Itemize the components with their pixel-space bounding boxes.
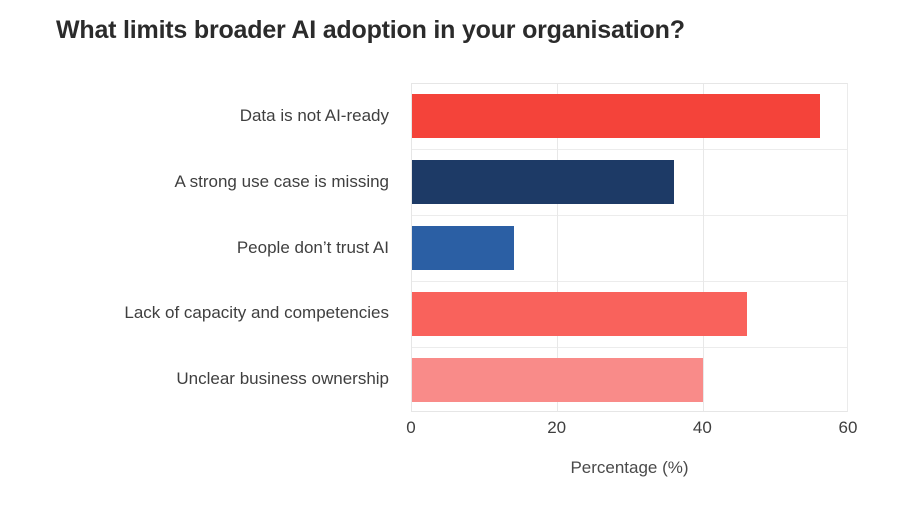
gridline-horizontal bbox=[412, 149, 847, 150]
y-axis-tick-label: Unclear business ownership bbox=[176, 369, 389, 389]
x-axis-tick-label: 60 bbox=[839, 418, 858, 438]
y-axis-tick-label: A strong use case is missing bbox=[175, 172, 389, 192]
bar-row bbox=[412, 358, 847, 402]
x-axis-tick-label: 20 bbox=[547, 418, 566, 438]
x-axis-title: Percentage (%) bbox=[411, 458, 848, 478]
gridline-horizontal bbox=[412, 215, 847, 216]
gridline-horizontal bbox=[412, 347, 847, 348]
bar-row bbox=[412, 226, 847, 270]
bar-row bbox=[412, 292, 847, 336]
x-axis-tick-label: 40 bbox=[693, 418, 712, 438]
y-axis-tick-label: Lack of capacity and competencies bbox=[124, 303, 389, 323]
y-axis-tick-label: People don’t trust AI bbox=[237, 238, 389, 258]
plot-area bbox=[411, 83, 848, 412]
chart-figure: What limits broader AI adoption in your … bbox=[0, 0, 900, 505]
bar[interactable] bbox=[412, 226, 514, 270]
bar[interactable] bbox=[412, 94, 820, 138]
x-axis-ticks: 0 20 40 60 bbox=[411, 418, 848, 446]
x-axis-tick-label: 0 bbox=[406, 418, 415, 438]
bar[interactable] bbox=[412, 292, 747, 336]
bar-row bbox=[412, 94, 847, 138]
bar-row bbox=[412, 160, 847, 204]
bar[interactable] bbox=[412, 160, 674, 204]
y-axis-labels: Data is not AI-ready A strong use case i… bbox=[0, 83, 400, 412]
chart-title: What limits broader AI adoption in your … bbox=[56, 16, 685, 45]
bar[interactable] bbox=[412, 358, 703, 402]
y-axis-tick-label: Data is not AI-ready bbox=[240, 106, 389, 126]
gridline-horizontal bbox=[412, 281, 847, 282]
